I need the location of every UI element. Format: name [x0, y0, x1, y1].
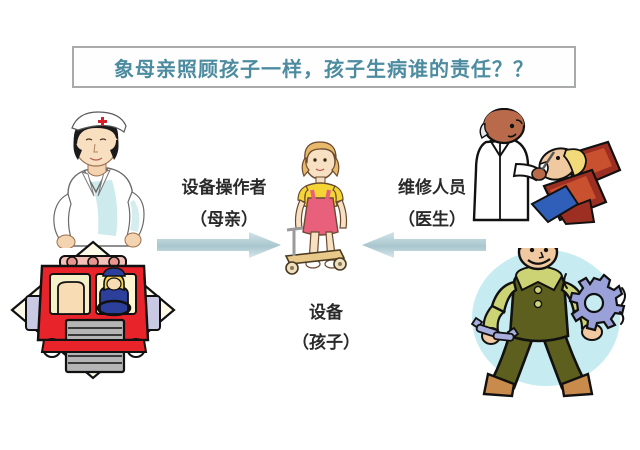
arrow-operator-to-equipment	[157, 232, 281, 262]
label-equipment-role: 设备	[272, 298, 380, 323]
poster-canvas: 象母亲照顾孩子一样，孩子生病谁的责任？？	[0, 0, 640, 450]
page-title: 象母亲照顾孩子一样，孩子生病谁的责任？？	[114, 53, 534, 82]
dentist-treating-patient-illustration	[466, 108, 632, 230]
arrow-repairer-to-equipment	[362, 232, 486, 262]
label-repairer-role: 维修人员	[378, 173, 486, 198]
title-banner: 象母亲照顾孩子一样，孩子生病谁的责任？？	[72, 46, 576, 88]
girl-with-scooter-illustration	[278, 140, 366, 284]
label-repairer-analogy: （医生）	[378, 205, 486, 230]
nurse-woman-illustration	[38, 108, 154, 252]
label-operator-role: 设备操作者	[160, 173, 288, 198]
red-fire-truck-illustration	[8, 240, 178, 384]
label-equipment-analogy: （孩子）	[272, 328, 380, 353]
mechanic-with-wrench-and-gear-illustration	[458, 248, 630, 404]
label-operator-analogy: （母亲）	[160, 205, 288, 230]
